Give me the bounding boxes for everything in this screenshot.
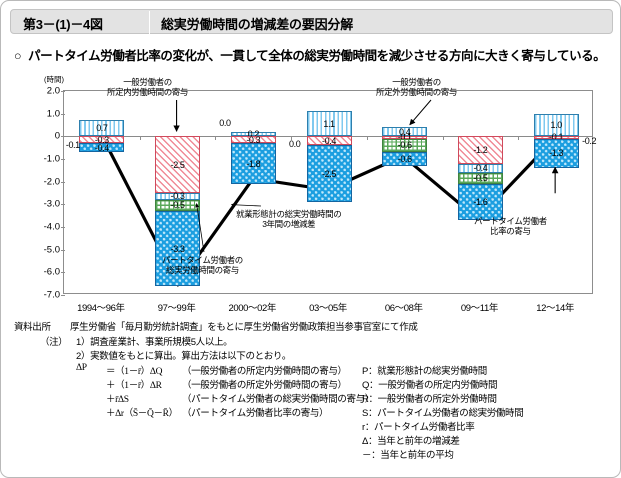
bar-segment: -0.5 <box>155 200 200 211</box>
formula-term-3: ＋r̄ΔS <box>106 391 129 405</box>
bar-value-label: -1.3 <box>535 148 578 158</box>
definition-2: Q：一般労働者の所定内労働時間 <box>362 377 497 391</box>
bar-segment: -0.4 <box>307 136 352 145</box>
y-axis-tick <box>61 295 65 296</box>
bar-value-label: -0.6 <box>383 140 426 150</box>
definition-5: r：パートタイム労働者比率 <box>362 419 474 433</box>
formula-desc-2: （一般労働者の所定外労働時間の寄与） <box>182 377 347 391</box>
x-axis-tick <box>518 136 519 140</box>
y-axis-label: 2.0 <box>18 86 60 97</box>
annotation-parttime-hours-line2: 総実労働時間の寄与 <box>162 265 243 275</box>
bar-segment: -0.3 <box>155 193 200 200</box>
bar-value-label: -0.5 <box>459 173 502 183</box>
formula-desc-3: （パートタイム労働者の総実労働時間の寄与） <box>182 391 374 405</box>
bar-value-label: -0.6 <box>383 154 426 164</box>
bar-value-label: 0.7 <box>80 123 123 133</box>
line-point-label: -0.1 <box>66 140 80 150</box>
chart-container: (時間) 2.01.00-1.0-2.0-3.0-4.0-5.0-6.0-7.0… <box>14 70 610 313</box>
y-axis-label: -6.0 <box>18 267 60 278</box>
bar-segment: -0.3 <box>231 136 276 143</box>
x-axis-tick <box>443 136 444 140</box>
y-axis-label: -4.0 <box>18 222 60 233</box>
annotation-shoteinai: 一般労働者の所定内労働時間の寄与 <box>107 77 188 98</box>
header-divider <box>149 11 150 34</box>
note-label: （注） <box>40 334 67 348</box>
figure-number: 第3－(1)－4図 <box>23 14 103 33</box>
note-item-1: 1）調査産業計、事業所規模5人以上。 <box>76 334 232 348</box>
annotation-shoteigai-line1: 一般労働者の <box>376 77 457 87</box>
bar-group: -1.2-0.4-0.5-1.6 <box>458 91 503 295</box>
y-axis-tick <box>61 182 65 183</box>
x-axis-label: 12～14年 <box>500 300 610 314</box>
bar-value-label: -0.4 <box>459 163 502 173</box>
bar-value-label: -1.6 <box>459 197 502 207</box>
annotation-parttime-hours-line1: パートタイム労働者の <box>162 255 243 265</box>
bar-group: 1.0-0.1-1.3 <box>534 91 579 295</box>
annotation-parttime-ratio: パートタイム労働者比率の寄与 <box>474 216 547 237</box>
line-point-label: 0.0 <box>219 118 230 128</box>
line-point-label: 0.0 <box>289 139 300 149</box>
x-axis-tick <box>140 136 141 140</box>
bar-segment: -0.4 <box>458 164 503 173</box>
formula-term-1: ＝（1－r̄）ΔQ <box>106 363 162 377</box>
bar-value-label: -2.5 <box>156 160 199 170</box>
line-point-label: -0.2 <box>582 136 596 146</box>
bar-segment: -0.6 <box>382 152 427 166</box>
y-axis-unit: (時間) <box>44 74 64 85</box>
y-axis-label: -3.0 <box>18 199 60 210</box>
bar-value-label: -0.5 <box>156 200 199 210</box>
figure-page: 第3－(1)－4図 総実労働時間の増減差の要因分解 ○パートタイム労働者比率の変… <box>0 0 621 478</box>
bar-value-label: 1.1 <box>308 119 351 129</box>
formula-lhs: ΔP <box>76 363 87 373</box>
y-axis-label: -5.0 <box>18 244 60 255</box>
y-axis-label: -7.0 <box>18 290 60 301</box>
annotation-parttime-ratio-line1: パートタイム労働者 <box>474 216 547 226</box>
bar-segment: -1.6 <box>458 184 503 220</box>
bullet-circle-icon: ○ <box>14 49 21 63</box>
y-axis-tick <box>61 250 65 251</box>
lead-statement: ○パートタイム労働者比率の変化が、一貫して全体の総実労働時間を減少させる方向に大… <box>14 45 605 64</box>
annotation-parttime-hours: パートタイム労働者の総実労働時間の寄与 <box>162 255 243 276</box>
bar-segment: -2.5 <box>155 136 200 193</box>
bar-group: 1.1-0.4-2.5 <box>307 91 352 295</box>
definition-1: P：就業形態計の総実労働時間 <box>362 363 487 377</box>
bar-segment: -1.2 <box>458 136 503 163</box>
annotation-total-change: 就業形態計の総実労働時間の3年間の増減差 <box>236 209 341 230</box>
annotation-shoteigai: 一般労働者の所定外労働時間の寄与 <box>376 77 457 98</box>
bar-segment: 1.1 <box>307 111 352 136</box>
bar-value-label: -1.8 <box>232 159 275 169</box>
figure-header: 第3－(1)－4図 総実労働時間の増減差の要因分解 <box>10 9 613 34</box>
definition-3: R：一般労働者の所定外労働時間 <box>362 391 497 405</box>
bar-value-label: -2.5 <box>308 169 351 179</box>
definition-4: S：パートタイム労働者の総実労働時間 <box>362 405 523 419</box>
annotation-shoteigai-line2: 所定外労働時間の寄与 <box>376 87 457 97</box>
bar-segment: -0.5 <box>458 173 503 184</box>
bar-segment: -0.4 <box>79 143 124 152</box>
definition-6: Δ：当年と前年の増減差 <box>362 433 460 447</box>
x-axis-tick <box>367 136 368 140</box>
bar-group: 0.4-0.1-0.6-0.6 <box>382 91 427 295</box>
bar-segment: -0.6 <box>382 139 427 153</box>
y-axis-label: 1.0 <box>18 108 60 119</box>
x-axis-tick <box>215 136 216 140</box>
bar-value-label: -0.4 <box>80 143 123 153</box>
annotation-shoteinai-line1: 一般労働者の <box>107 77 188 87</box>
bar-segment: -2.5 <box>307 145 352 202</box>
y-axis-label: -1.0 <box>18 154 60 165</box>
annotation-parttime-ratio-line2: 比率の寄与 <box>474 226 547 236</box>
y-axis-label: -2.0 <box>18 176 60 187</box>
formula-desc-1: （一般労働者の所定内労働時間の寄与） <box>182 363 347 377</box>
y-axis-tick <box>61 227 65 228</box>
figure-title: 総実労働時間の増減差の要因分解 <box>161 14 353 33</box>
y-axis-tick <box>61 272 65 273</box>
y-axis-tick <box>61 159 65 160</box>
plot-area: 2.01.00-1.0-2.0-3.0-4.0-5.0-6.0-7.00.7-0… <box>63 90 593 294</box>
y-axis-tick <box>61 91 65 92</box>
formula-term-4: ＋Δr（S̄－Q̄－R̄） <box>106 405 178 419</box>
y-axis-label: 0 <box>18 131 60 142</box>
bar-segment: -1.8 <box>231 143 276 184</box>
bar-value-label: -0.4 <box>308 136 351 146</box>
bar-value-label: 1.0 <box>535 120 578 130</box>
y-axis-tick <box>61 204 65 205</box>
source-text: 厚生労働省「毎月勤労統計調査」をもとに厚生労働省労働政策担当参事官室にて作成 <box>70 319 418 333</box>
lead-text: パートタイム労働者比率の変化が、一貫して全体の総実労働時間を減少させる方向に大き… <box>28 49 605 63</box>
bar-value-label: -3.3 <box>156 244 199 254</box>
bar-group: 0.7-0.3-0.4 <box>79 91 124 295</box>
source-label: 資料出所 <box>14 319 51 333</box>
y-axis-tick <box>61 114 65 115</box>
definition-7: －：当年と前年の平均 <box>362 447 454 461</box>
annotation-shoteinai-line2: 所定内労働時間の寄与 <box>107 87 188 97</box>
bar-value-label: -1.2 <box>459 145 502 155</box>
note-item-2: 2）実数値をもとに算出。算出方法は以下のとおり。 <box>76 348 291 362</box>
formula-term-2: ＋（1－r̄）ΔR <box>106 377 162 391</box>
formula-desc-4: （パートタイム労働者比率の寄与） <box>182 405 328 419</box>
bar-segment: -1.3 <box>534 139 579 168</box>
annotation-total-change-line2: 3年間の増減差 <box>236 219 341 229</box>
annotation-total-change-line1: 就業形態計の総実労働時間の <box>236 209 341 219</box>
